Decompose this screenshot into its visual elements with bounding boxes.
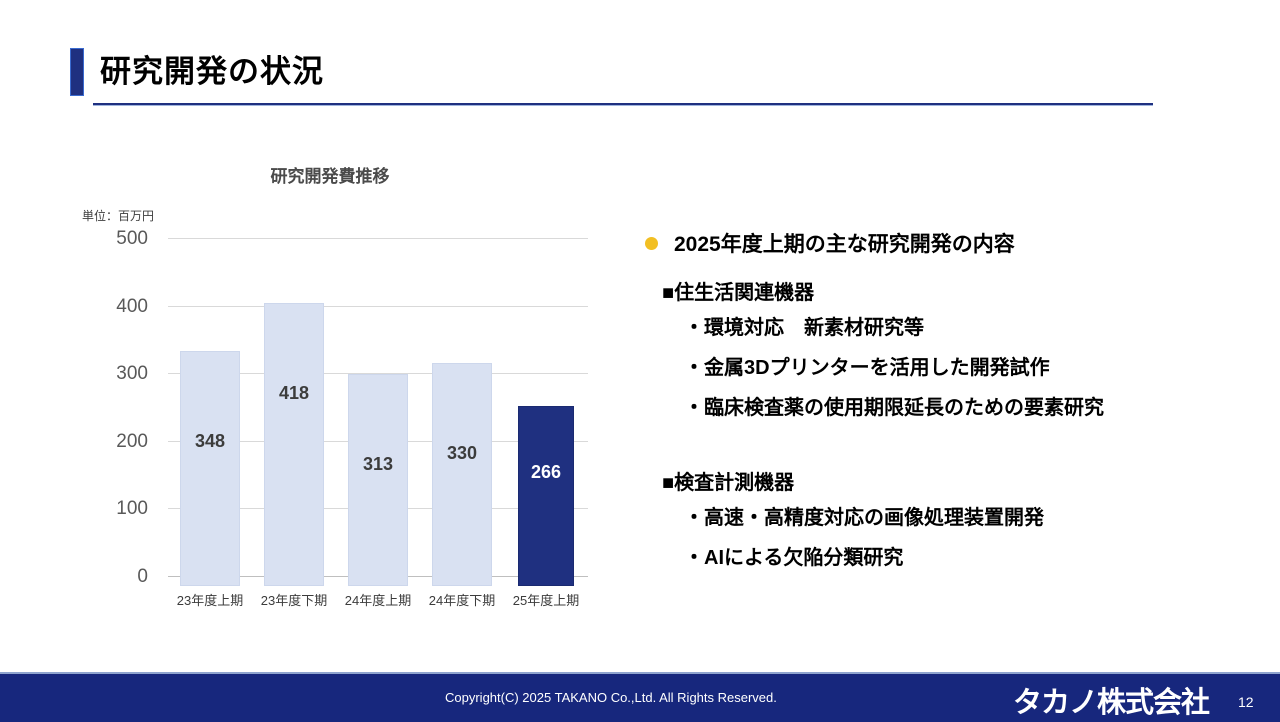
chart-y-tick-label: 0 — [86, 567, 148, 586]
page-title: 研究開発の状況 — [100, 50, 324, 94]
page-number: 12 — [1238, 694, 1254, 710]
chart-bar: 348 — [180, 351, 240, 586]
content-panel: 2025年度上期の主な研究開発の内容 ■住生活関連機器・環境対応 新素材研究等・… — [645, 220, 1245, 620]
chart-bar-value-label: 313 — [349, 455, 407, 473]
content-group-item: ・金属3Dプリンターを活用した開発試作 — [662, 348, 1242, 388]
chart-bar-value-label: 418 — [265, 384, 323, 402]
company-logo: タカノ株式会社 — [1013, 679, 1209, 721]
chart-x-tick-label: 24年度下期 — [420, 590, 504, 609]
content-group-item: ・AIによる欠陥分類研究 — [662, 538, 1242, 578]
content-heading-row: 2025年度上期の主な研究開発の内容 — [645, 228, 1015, 258]
slide-header: 研究開発の状況 — [0, 0, 1280, 120]
content-group-title: ■住生活関連機器 — [662, 278, 1242, 308]
chart-bar-value-label: 330 — [433, 444, 491, 462]
chart-y-tick-label: 400 — [86, 297, 148, 316]
footer-copyright: Copyright(C) 2025 TAKANO Co.,Ltd. All Ri… — [445, 690, 777, 705]
content-group-title: ■検査計測機器 — [662, 468, 1242, 498]
chart-x-axis: 23年度上期23年度下期24年度上期24年度下期25年度上期 — [168, 590, 588, 614]
chart-bar-value-label: 348 — [181, 432, 239, 450]
chart-bar: 313 — [348, 374, 408, 586]
content-group: ■検査計測機器・高速・高精度対応の画像処理装置開発・AIによる欠陥分類研究 — [662, 468, 1242, 578]
chart-x-tick-label: 24年度上期 — [336, 590, 420, 609]
chart-x-tick-label: 23年度下期 — [252, 590, 336, 609]
chart-bar: 266 — [518, 406, 574, 586]
chart-y-tick-label: 100 — [86, 499, 148, 518]
circle-bullet-icon — [645, 237, 658, 250]
content-group-item: ・環境対応 新素材研究等 — [662, 308, 1242, 348]
chart-container: 研究開発費推移 単位：百万円 0100200300400500 34841831… — [70, 150, 600, 630]
chart-bar-value-label: 266 — [519, 463, 573, 481]
content-heading: 2025年度上期の主な研究開発の内容 — [674, 228, 1015, 258]
chart-bar: 418 — [264, 303, 324, 586]
chart-y-tick-label: 200 — [86, 432, 148, 451]
content-group: ■住生活関連機器・環境対応 新素材研究等・金属3Dプリンターを活用した開発試作・… — [662, 278, 1242, 428]
chart-plot-area: 0100200300400500 348418313330266 — [86, 238, 600, 586]
title-divider — [93, 103, 1153, 106]
chart-bar: 330 — [432, 363, 492, 586]
title-accent-bar — [70, 48, 84, 96]
chart-x-tick-label: 25年度上期 — [504, 590, 588, 609]
content-group-item: ・臨床検査薬の使用期限延長のための要素研究 — [662, 388, 1242, 428]
content-group-item: ・高速・高精度対応の画像処理装置開発 — [662, 498, 1242, 538]
chart-gridline — [168, 306, 588, 307]
chart-y-tick-label: 500 — [86, 229, 148, 248]
chart-y-tick-label: 300 — [86, 364, 148, 383]
chart-title: 研究開発費推移 — [70, 162, 590, 187]
chart-x-tick-label: 23年度上期 — [168, 590, 252, 609]
chart-gridline — [168, 238, 588, 239]
chart-unit-label: 単位：百万円 — [82, 207, 154, 224]
footer-bar: Copyright(C) 2025 TAKANO Co.,Ltd. All Ri… — [0, 672, 1280, 722]
